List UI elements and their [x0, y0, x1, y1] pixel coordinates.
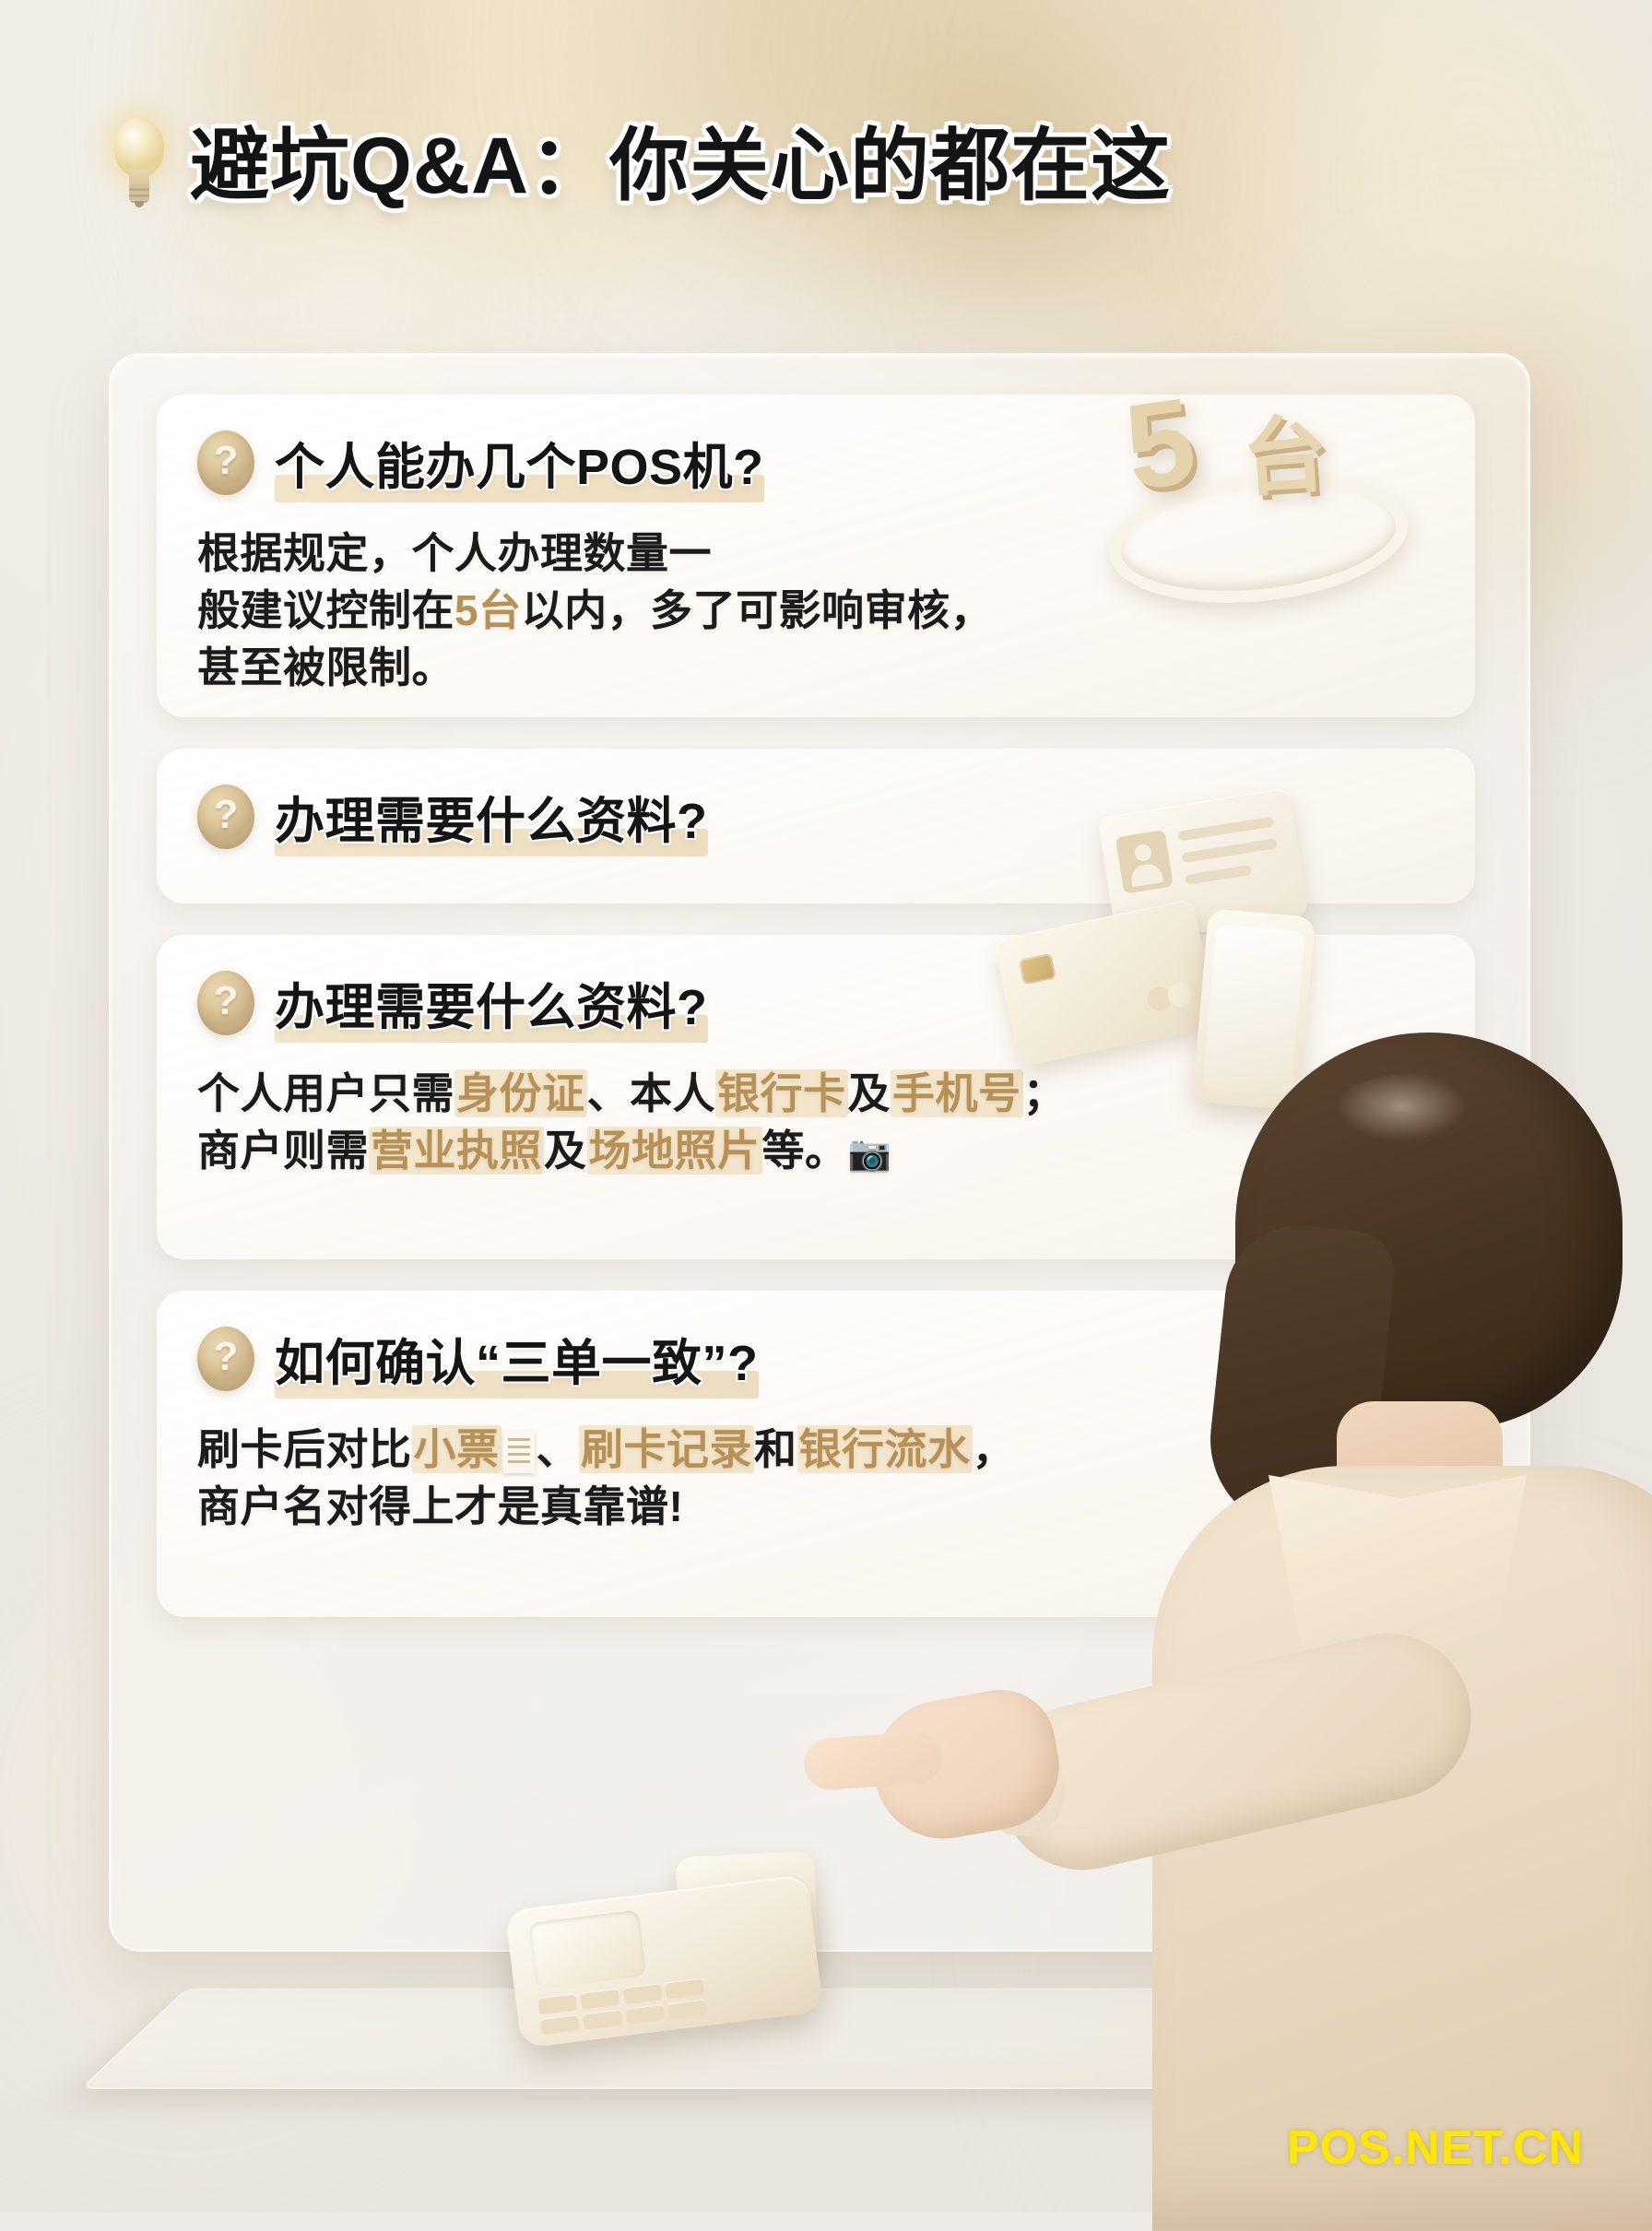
answer-highlight: 刷卡记录 — [579, 1425, 754, 1473]
question-highlight-wrap: 办理需要什么资料? — [275, 966, 708, 1039]
hair-highlight — [1327, 1073, 1512, 1156]
answer-highlight: 营业执照 — [369, 1127, 544, 1175]
answer-highlight: 场地照片 — [587, 1127, 762, 1175]
camera-icon: 📷 — [848, 1135, 892, 1174]
question-mark-icon: ? — [197, 1327, 254, 1391]
pos-terminal-icon — [501, 1842, 865, 2084]
page-title-text: 避坑Q&A：你关心的都在这 — [190, 126, 1171, 206]
woman-3d-figure — [940, 1033, 1652, 2222]
question-mark-icon: ? — [197, 431, 254, 495]
question-mark-icon: ? — [197, 785, 254, 849]
question-highlight-wrap: 个人能办几个POS机? — [275, 426, 764, 499]
answer-highlight: 身份证 — [454, 1069, 587, 1117]
page-title: 避坑Q&A：你关心的都在这 — [109, 118, 1171, 214]
question-text: 如何确认“三单一致”? — [275, 1322, 759, 1395]
question-text: 办理需要什么资料? — [275, 780, 708, 853]
question-row: ? 办理需要什么资料? — [197, 966, 1434, 1039]
receipt-icon — [503, 1431, 535, 1473]
pointing-finger — [802, 1730, 944, 1791]
watermark: POS.NET.CN — [1287, 2120, 1584, 2176]
answer-text: 根据规定，个人办理数量一般建议控制在5台以内，多了可影响审核，甚至被限制。 — [197, 525, 1434, 696]
question-mark-icon: ? — [197, 971, 254, 1035]
answer-highlight: 银行卡 — [715, 1069, 848, 1117]
question-text: 办理需要什么资料? — [275, 966, 708, 1039]
question-row: ? 个人能办几个POS机? — [197, 426, 1434, 499]
question-row: ? 办理需要什么资料? — [197, 780, 1434, 853]
answer-highlight: 小票 — [412, 1425, 501, 1473]
qa-card[interactable]: ? 办理需要什么资料? — [157, 749, 1475, 903]
question-text: 个人能办几个POS机? — [275, 426, 764, 499]
question-highlight-wrap: 如何确认“三单一致”? — [275, 1322, 759, 1395]
lightbulb-icon — [109, 118, 170, 214]
question-highlight-wrap: 办理需要什么资料? — [275, 780, 708, 853]
qa-card[interactable]: ? 个人能办几个POS机? 根据规定，个人办理数量一般建议控制在5台以内，多了可… — [157, 395, 1475, 717]
answer-highlight: 5台 — [454, 586, 522, 634]
